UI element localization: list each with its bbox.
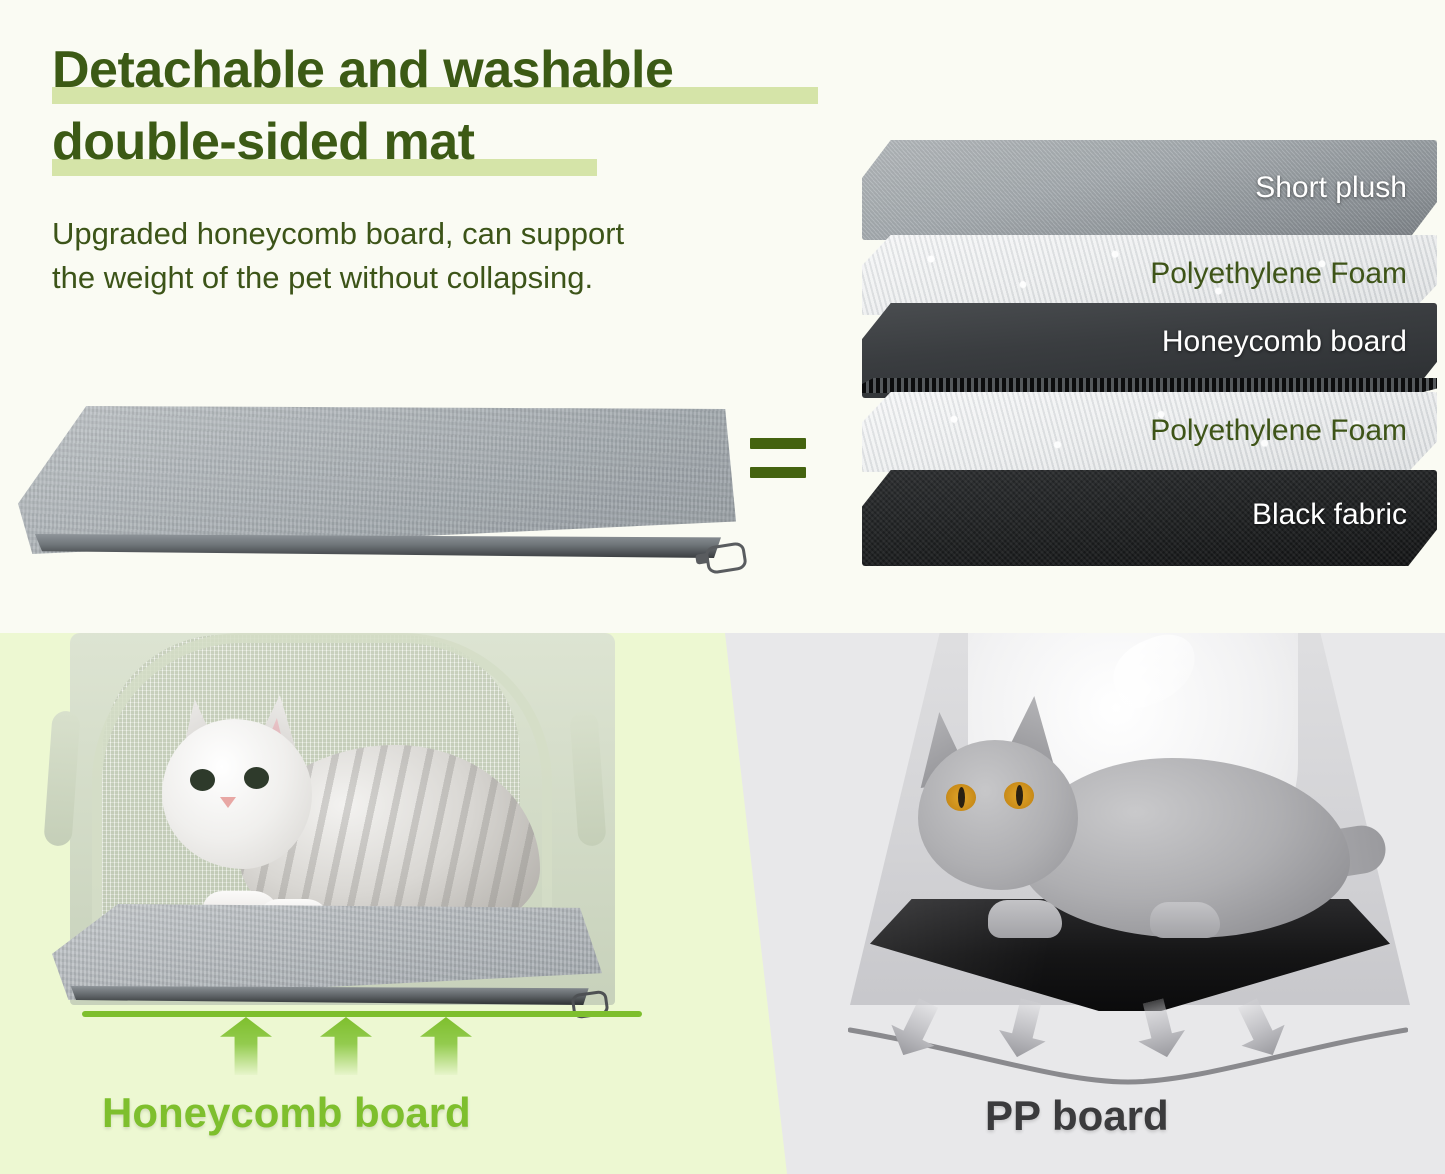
layer-honeycomb-board: Honeycomb board [862,303,1437,398]
arrow-down-icon [882,992,951,1065]
top-section: Detachable and washable double-sided mat… [0,0,1445,633]
headline: Detachable and washable double-sided mat [52,34,852,178]
layer-label: Polyethylene Foam [1150,257,1407,291]
cat-eye-left [190,769,215,791]
layer-label: Honeycomb board [1162,325,1407,359]
layer-label: Black fabric [1252,498,1407,532]
equals-sign-icon [750,438,806,478]
product-infographic: Detachable and washable double-sided mat… [0,0,1445,1174]
layer-polyethylene-foam-bottom: Polyethylene Foam [862,392,1437,472]
arrow-up-icon [420,1017,472,1075]
layer-stack-diagram: Short plush Polyethylene Foam Honeycomb … [862,140,1437,580]
arrow-down-icon [1130,995,1191,1063]
support-arrows-up [52,1007,662,1077]
layer-label: Short plush [1255,171,1407,205]
layer-black-fabric: Black fabric [862,470,1437,566]
zipper-pull-icon [704,541,748,575]
cat-paw-front-right [1150,902,1220,938]
honeycomb-cells-icon [862,378,1437,393]
headline-line-2: double-sided mat [52,106,852,178]
arrow-down-icon [994,995,1055,1063]
flat-support-line [82,1011,642,1017]
mat-plush-texture [52,904,602,1000]
layer-short-plush: Short plush [862,140,1437,240]
headline-line-1: Detachable and washable [52,34,852,106]
layer-label: Polyethylene Foam [1150,414,1407,448]
mat-side-edge [60,986,594,1005]
cat-eye-right [244,767,269,789]
cat-paw-front-left [988,900,1062,938]
mat-product-photo [18,406,736,581]
flat-honeycomb-mat [52,904,602,1019]
cat-pupil-right [1016,785,1023,806]
equals-bar-bottom [750,467,806,478]
mat-plush-texture [18,406,736,554]
support-arrows-down [840,1000,1420,1080]
cat-head [162,719,312,869]
mat-side-edge [28,534,728,558]
arrow-up-icon [320,1017,372,1075]
arrow-up-icon [220,1017,272,1075]
arrow-down-icon [1226,992,1295,1065]
headline-text-1: Detachable and washable [52,41,673,99]
cat-pupil-left [958,787,965,808]
subtitle-line-1: Upgraded honeycomb board, can support [52,212,812,256]
caption-pp-board: PP board [985,1092,1169,1140]
cat-head [918,740,1078,890]
gray-cat [900,688,1400,988]
subtitle-line-2: the weight of the pet without collapsing… [52,256,812,300]
caption-honeycomb-board: Honeycomb board [102,1089,471,1137]
equals-bar-top [750,438,806,449]
subtitle: Upgraded honeycomb board, can support th… [52,212,812,300]
headline-text-2: double-sided mat [52,113,474,171]
